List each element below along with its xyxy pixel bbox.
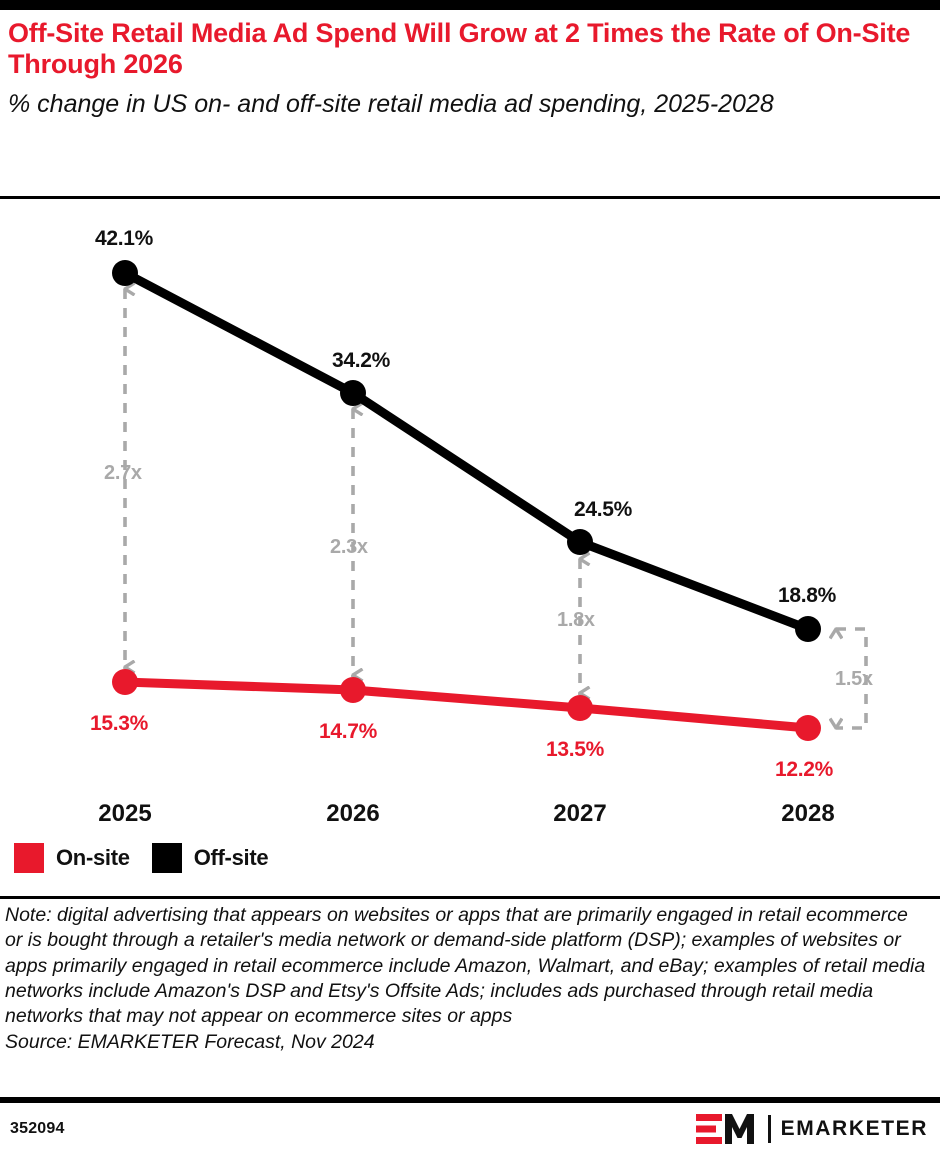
multiplier-label-2027: 1.8x xyxy=(557,609,595,632)
chart-page: Off-Site Retail Media Ad Spend Will Grow… xyxy=(0,0,940,1154)
legend-item-offsite[interactable]: Off-site xyxy=(152,843,269,873)
top-black-bar xyxy=(0,0,940,10)
x-axis: 2025 2026 2027 2028 xyxy=(0,800,940,836)
chart-legend: On-site Off-site xyxy=(14,843,290,873)
legend-item-onsite[interactable]: On-site xyxy=(14,843,130,873)
series-line-onsite xyxy=(125,682,808,728)
data-point-offsite-2027 xyxy=(567,529,593,555)
series-line-offsite xyxy=(125,273,808,629)
value-label-offsite-2027: 24.5% xyxy=(574,498,632,522)
value-label-offsite-2025: 42.1% xyxy=(95,227,153,251)
data-point-offsite-2025 xyxy=(112,260,138,286)
multiplier-label-2025: 2.7x xyxy=(104,462,142,485)
page-title: Off-Site Retail Media Ad Spend Will Grow… xyxy=(8,18,924,81)
value-label-onsite-2025: 15.3% xyxy=(90,712,148,736)
emarketer-logo[interactable]: EMARKETER xyxy=(696,1113,928,1145)
x-tick-2026: 2026 xyxy=(326,800,379,828)
footnote-source: Source: EMARKETER Forecast, Nov 2024 xyxy=(5,1030,930,1055)
footnote-note: Note: digital advertising that appears o… xyxy=(5,903,930,1030)
multiplier-label-2028: 1.5x xyxy=(835,668,873,691)
document-id: 352094 xyxy=(10,1120,65,1138)
legend-label-onsite: On-site xyxy=(56,845,130,871)
x-tick-2025: 2025 xyxy=(98,800,151,828)
legend-swatch-offsite xyxy=(152,843,182,873)
data-point-onsite-2028 xyxy=(795,715,821,741)
x-tick-2028: 2028 xyxy=(781,800,834,828)
logo-divider xyxy=(768,1115,771,1143)
note-divider xyxy=(0,896,940,899)
value-label-onsite-2028: 12.2% xyxy=(775,758,833,782)
value-label-onsite-2026: 14.7% xyxy=(319,720,377,744)
footnote-block: Note: digital advertising that appears o… xyxy=(5,903,930,1055)
data-point-onsite-2027 xyxy=(567,695,593,721)
line-chart: 42.1% 34.2% 24.5% 18.8% 15.3% 14.7% 13.5… xyxy=(0,199,940,839)
legend-swatch-onsite xyxy=(14,843,44,873)
chart-svg xyxy=(0,199,940,839)
x-tick-2027: 2027 xyxy=(553,800,606,828)
brand-name: EMARKETER xyxy=(781,1117,928,1141)
multiplier-label-2026: 2.3x xyxy=(330,536,368,559)
chart-header: Off-Site Retail Media Ad Spend Will Grow… xyxy=(8,18,924,119)
value-label-onsite-2027: 13.5% xyxy=(546,738,604,762)
value-label-offsite-2026: 34.2% xyxy=(332,349,390,373)
page-subtitle: % change in US on- and off-site retail m… xyxy=(8,89,924,119)
data-point-onsite-2025 xyxy=(112,669,138,695)
page-footer: 352094 EMARKETER xyxy=(0,1103,940,1154)
em-monogram-icon xyxy=(696,1114,758,1144)
value-label-offsite-2028: 18.8% xyxy=(778,584,836,608)
legend-label-offsite: Off-site xyxy=(194,845,269,871)
data-point-offsite-2028 xyxy=(795,616,821,642)
data-point-offsite-2026 xyxy=(340,380,366,406)
data-point-onsite-2026 xyxy=(340,677,366,703)
